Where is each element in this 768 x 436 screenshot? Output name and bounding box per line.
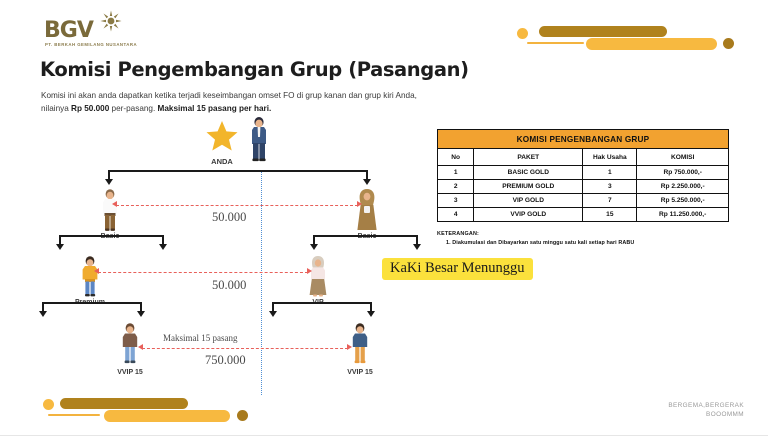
measure-arrow-1 bbox=[116, 205, 358, 206]
table-row: 1 BASIC GOLD 1 Rp 750.000,- bbox=[438, 166, 729, 180]
table-title: KOMISI PENGENBANGAN GRUP bbox=[438, 130, 729, 149]
center-divider bbox=[261, 170, 262, 395]
cell-no: 1 bbox=[438, 166, 474, 180]
measure-arrow-3-head-left bbox=[138, 344, 143, 350]
node-vvip-right-label: VVIP 15 bbox=[336, 369, 384, 376]
page-title: Komisi Pengembangan Grup (Pasangan) bbox=[40, 58, 469, 81]
table-row: 2 PREMIUM GOLD 3 Rp 2.250.000,- bbox=[438, 180, 729, 194]
measure-arrow-1-head-right bbox=[357, 201, 362, 207]
node-root-label: ANDA bbox=[202, 157, 242, 166]
connector-root-horizontal bbox=[108, 170, 368, 172]
cell-hak: 7 bbox=[583, 194, 637, 208]
connector-l1-left-arrow-b bbox=[159, 244, 167, 250]
measure-amount-1: 50.000 bbox=[212, 210, 246, 225]
cell-no: 4 bbox=[438, 208, 474, 222]
col-header-paket: PAKET bbox=[474, 149, 583, 166]
connector-l1-left-horizontal bbox=[59, 235, 164, 237]
connector-root-right-arrow bbox=[363, 179, 371, 185]
connector-l2-left-arrow-b bbox=[137, 311, 145, 317]
deco-bar-dark bbox=[539, 26, 667, 37]
measure-amount-2: 50.000 bbox=[212, 278, 246, 293]
cell-komisi: Rp 2.250.000,- bbox=[637, 180, 729, 194]
cell-paket: VVIP GOLD bbox=[474, 208, 583, 222]
table-column-headers: No PAKET Hak Usaha KOMISI bbox=[438, 149, 729, 166]
table-body: 1 BASIC GOLD 1 Rp 750.000,- 2 PREMIUM GO… bbox=[438, 166, 729, 222]
deco-bar-light bbox=[586, 38, 717, 50]
measure-arrow-3-head-right bbox=[347, 344, 352, 350]
logo-subtitle: PT. BERKAH GEMILANG NUSANTARA bbox=[45, 42, 137, 47]
measure-arrow-2-head-right bbox=[307, 268, 312, 274]
measure-arrow-3 bbox=[142, 348, 348, 349]
person-icon-vip bbox=[306, 255, 330, 297]
person-icon-premium bbox=[78, 255, 102, 297]
cell-hak: 15 bbox=[583, 208, 637, 222]
connector-l2-right-arrow-b bbox=[367, 311, 375, 317]
footer-line-2: BOOOMMM bbox=[668, 410, 744, 419]
connector-root-left-arrow bbox=[105, 179, 113, 185]
star-icon bbox=[205, 120, 239, 152]
cell-paket: VIP GOLD bbox=[474, 194, 583, 208]
deco-bar-dark-2 bbox=[60, 398, 188, 409]
measure-arrow-2 bbox=[98, 272, 308, 273]
commission-table: KOMISI PENGENBANGAN GRUP No PAKET Hak Us… bbox=[437, 129, 729, 222]
node-root: ANDA bbox=[202, 120, 242, 166]
cell-paket: BASIC GOLD bbox=[474, 166, 583, 180]
company-logo: BGV PT. BERKAH GEMILANG NUSANTARA bbox=[44, 12, 154, 52]
person-icon-right-basic bbox=[354, 188, 380, 232]
table-title-row: KOMISI PENGENBANGAN GRUP bbox=[438, 130, 729, 149]
measure-max-note: Maksimal 15 pasang bbox=[163, 333, 238, 343]
commission-table-element: KOMISI PENGENBANGAN GRUP No PAKET Hak Us… bbox=[437, 129, 729, 222]
measure-amount-3: 750.000 bbox=[205, 353, 246, 368]
connector-l2-right-arrow-a bbox=[269, 311, 277, 317]
node-vvip-left-label: VVIP 15 bbox=[106, 369, 154, 376]
measure-arrow-1-head-left bbox=[112, 201, 117, 207]
deco-dot-dark-gold bbox=[723, 38, 734, 49]
connector-l1-right-arrow-b bbox=[413, 244, 421, 250]
connector-l1-right-horizontal bbox=[313, 235, 418, 237]
table-head: KOMISI PENGENBANGAN GRUP No PAKET Hak Us… bbox=[438, 130, 729, 166]
deco-bar-light-2 bbox=[104, 410, 230, 422]
slide-canvas: BGV PT. BERKAH GEMILANG NUSANTARA Komisi… bbox=[0, 0, 768, 436]
deco-thin-line-2 bbox=[48, 414, 100, 416]
connector-l2-left-horizontal bbox=[42, 302, 142, 304]
table-row: 4 VVIP GOLD 15 Rp 11.250.000,- bbox=[438, 208, 729, 222]
col-header-no: No bbox=[438, 149, 474, 166]
footer-tagline: BERGEMA,BERGERAK BOOOMMM bbox=[668, 401, 744, 419]
deco-dot-dark-gold-2 bbox=[237, 410, 248, 421]
keterangan-title: KETERANGAN: bbox=[437, 231, 479, 237]
starburst-icon bbox=[100, 10, 122, 32]
cell-no: 2 bbox=[438, 180, 474, 194]
footer-line-1: BERGEMA,BERGERAK bbox=[668, 401, 744, 410]
cell-no: 3 bbox=[438, 194, 474, 208]
person-icon-root bbox=[248, 116, 270, 162]
connector-l2-left-arrow-a bbox=[39, 311, 47, 317]
cell-komisi: Rp 750.000,- bbox=[637, 166, 729, 180]
cell-komisi: Rp 5.250.000,- bbox=[637, 194, 729, 208]
deco-dot-small-gold-2 bbox=[43, 399, 54, 410]
highlight-banner: KaKi Besar Menunggu bbox=[382, 258, 533, 280]
deco-dot-small-gold bbox=[517, 28, 528, 39]
measure-arrow-2-head-left bbox=[94, 268, 99, 274]
cell-paket: PREMIUM GOLD bbox=[474, 180, 583, 194]
logo-wordmark: BGV bbox=[44, 18, 93, 43]
deco-thin-line bbox=[527, 42, 584, 44]
col-header-hak: Hak Usaha bbox=[583, 149, 637, 166]
cell-hak: 3 bbox=[583, 180, 637, 194]
cell-komisi: Rp 11.250.000,- bbox=[637, 208, 729, 222]
keterangan-item: 1. Diakumulasi dan Dibayarkan satu mingg… bbox=[446, 240, 634, 246]
cell-hak: 1 bbox=[583, 166, 637, 180]
genealogy-diagram: ANDA Basic bbox=[0, 110, 430, 395]
connector-l1-left-arrow-a bbox=[56, 244, 64, 250]
connector-l1-right-arrow-a bbox=[310, 244, 318, 250]
table-row: 3 VIP GOLD 7 Rp 5.250.000,- bbox=[438, 194, 729, 208]
person-icon-left-basic bbox=[98, 188, 122, 232]
connector-l2-right-horizontal bbox=[272, 302, 372, 304]
col-header-komisi: KOMISI bbox=[637, 149, 729, 166]
